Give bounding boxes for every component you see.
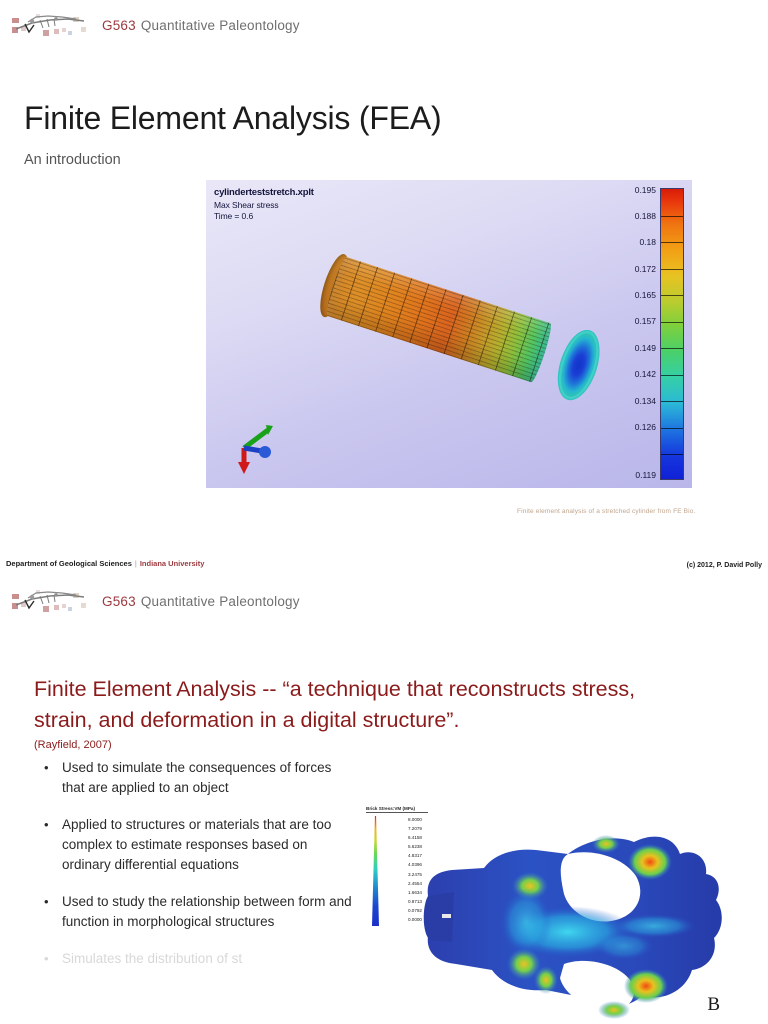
footer-copyright: (c) 2012, P. David Polly	[687, 562, 762, 569]
bullet-text: Applied to structures or materials that …	[62, 815, 354, 875]
legend-title: Brick Stress:VM (MPa)	[366, 806, 428, 813]
fossil-skeleton-logo-icon	[10, 588, 94, 614]
page-subtitle: An introduction	[24, 152, 121, 168]
bullet-dot-icon: •	[44, 815, 62, 875]
fea-figure-labels: cylinderteststretch.xplt Max Shear stres…	[214, 187, 314, 223]
colorbar-tick-label: 0.18	[639, 237, 656, 247]
footer-affiliation: Department of Geological Sciences|Indian…	[6, 559, 204, 568]
header-course-title: Quantitative Paleontology	[141, 18, 300, 33]
slide-header-2: G563 Quantitative Paleontology	[10, 588, 300, 614]
footer-divider	[0, 552, 768, 553]
colorbar-tick-labels: 0.195 0.188 0.18 0.172 0.165 0.157 0.149…	[612, 188, 656, 480]
colorbar-tick-label: 0.172	[635, 264, 656, 274]
page-title: Finite Element Analysis (FEA)	[24, 100, 441, 137]
fossil-logo-svg	[10, 12, 94, 38]
colorbar-tick-label: 0.119	[635, 470, 656, 480]
slide2-citation: (Rayfield, 2007)	[34, 739, 112, 751]
footer-department: Department of Geological Sciences	[6, 559, 132, 568]
slide-2: G563 Quantitative Paleontology Finite El…	[0, 576, 768, 1024]
header-course-code: G563	[102, 594, 136, 609]
bullet-text: Used to simulate the consequences of for…	[62, 758, 354, 798]
axis-triad-icon	[230, 418, 286, 476]
fea-cylinder-figure: cylinderteststretch.xplt Max Shear stres…	[206, 180, 692, 488]
colorbar-tick-label: 0.165	[635, 290, 656, 300]
fea-file-label: cylinderteststretch.xplt	[214, 187, 314, 200]
skull-stress-map	[418, 814, 766, 1024]
axis-triad-svg	[230, 418, 286, 476]
cylinder-right-cap-rim	[552, 326, 606, 403]
colorbar-tick-label: 0.195	[635, 185, 656, 195]
list-item: • Used to study the relationship between…	[44, 892, 354, 932]
cylinder-mesh-model	[311, 235, 597, 434]
header-course-code: G563	[102, 18, 136, 33]
colorbar-tick-label: 0.142	[635, 369, 656, 379]
footer-separator: |	[135, 559, 137, 568]
stress-colorbar	[660, 188, 684, 480]
colorbar-tick-label: 0.188	[635, 211, 656, 221]
fossil-logo-svg	[10, 588, 94, 614]
colorbar-tick-label: 0.157	[635, 316, 656, 326]
slide2-title: Finite Element Analysis -- “a technique …	[34, 674, 684, 736]
colorbar-tick-label: 0.149	[635, 343, 656, 353]
fea-stress-label: Max Shear stress	[214, 200, 314, 211]
bullet-text: Simulates the distribution of st	[62, 949, 354, 969]
header-course-title: Quantitative Paleontology	[141, 594, 300, 609]
colorbar-tick-label: 0.134	[635, 396, 656, 406]
list-item: • Applied to structures or materials tha…	[44, 815, 354, 875]
slide-1: G563 Quantitative Paleontology Finite El…	[0, 0, 768, 576]
footer-university: Indiana University	[140, 559, 205, 568]
cylinder-mesh-lines	[324, 256, 554, 384]
bullet-dot-icon: •	[44, 892, 62, 932]
skull-svg	[418, 814, 766, 1024]
fea-time-label: Time = 0.6	[214, 211, 314, 222]
slide-header-1: G563 Quantitative Paleontology	[10, 12, 300, 38]
bullet-dot-icon: •	[44, 758, 62, 798]
slide2-bullet-list: • Used to simulate the consequences of f…	[44, 758, 354, 986]
panel-label-b: B	[707, 994, 720, 1016]
figure-caption: Finite element analysis of a stretched c…	[517, 508, 695, 515]
colorbar-tick-label: 0.126	[635, 422, 656, 432]
fossil-skeleton-logo-icon	[10, 12, 94, 38]
skull-fea-figure: Brick Stress:VM (MPa) 8.0000 7.2079 6.41…	[358, 806, 768, 1024]
list-item: • Simulates the distribution of st	[44, 949, 354, 969]
bullet-text: Used to study the relationship between f…	[62, 892, 354, 932]
list-item: • Used to simulate the consequences of f…	[44, 758, 354, 798]
bullet-dot-icon: •	[44, 949, 62, 969]
